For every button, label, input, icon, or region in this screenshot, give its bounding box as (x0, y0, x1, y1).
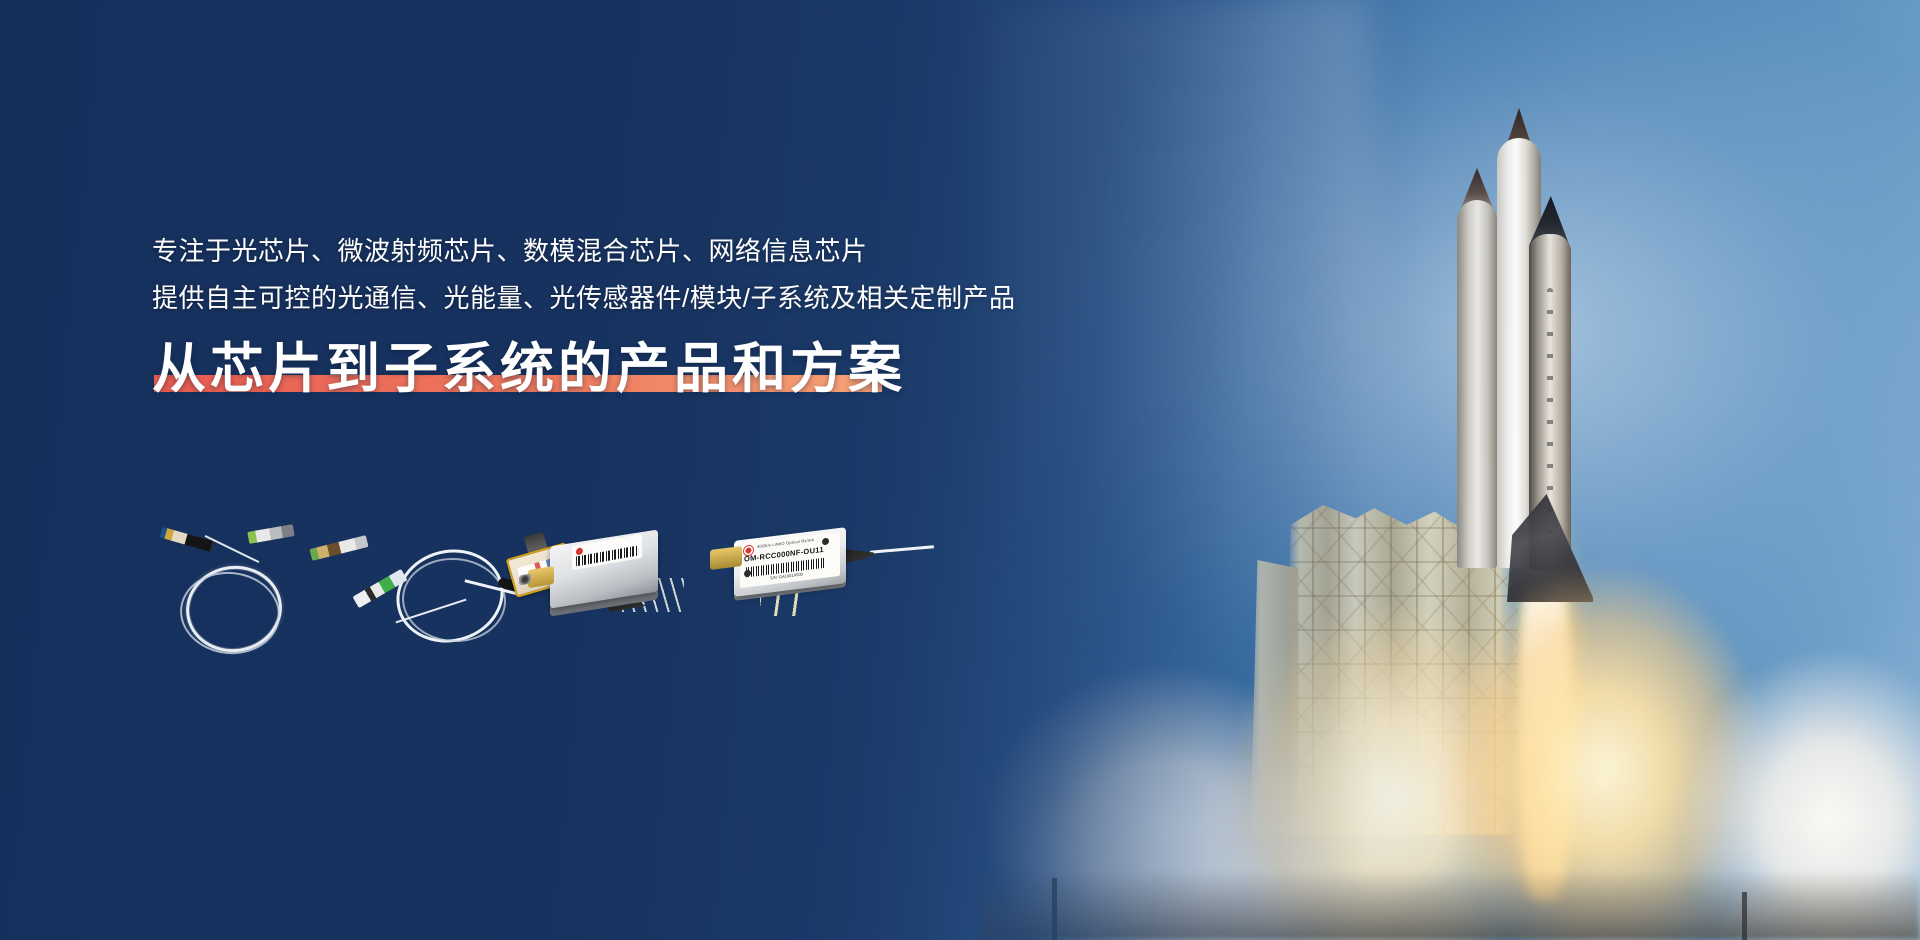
hero-subtitle-line-2: 提供自主可控的光通信、光能量、光传感器件/模块/子系统及相关定制产品 (152, 275, 1082, 322)
product-fiber-patch-loop (310, 524, 520, 664)
hero-headline: 从芯片到子系统的产品和方案 (152, 338, 906, 402)
fiber-connector-left (160, 527, 215, 552)
fiber-connector-right (247, 524, 294, 544)
receiver-output-fiber (870, 545, 934, 554)
blue-gradient-overlay (0, 0, 1920, 940)
receiver-sma-connector (710, 546, 742, 570)
product-image-row: 40Gb/s LiNbO Optical Rx/mA OM-RCC000NF-O… (150, 520, 1030, 660)
hero-subtitle-line-1: 专注于光芯片、微波射频芯片、数模混合芯片、网络信息芯片 (152, 228, 1082, 275)
patch-connector-upper (309, 535, 368, 561)
product-optical-receiver: 40Gb/s LiNbO Optical Rx/mA OM-RCC000NF-O… (710, 520, 970, 660)
rf-module-logo-dot (576, 547, 583, 555)
hero-copy: 专注于光芯片、微波射频芯片、数模混合芯片、网络信息芯片 提供自主可控的光通信、光… (152, 228, 1082, 402)
background-photo (0, 0, 1920, 940)
hero-banner: 专注于光芯片、微波射频芯片、数模混合芯片、网络信息芯片 提供自主可控的光通信、光… (0, 0, 1920, 940)
product-fiber-pigtail-coil (150, 520, 320, 660)
hero-headline-wrap: 从芯片到子系统的产品和方案 (152, 338, 906, 402)
